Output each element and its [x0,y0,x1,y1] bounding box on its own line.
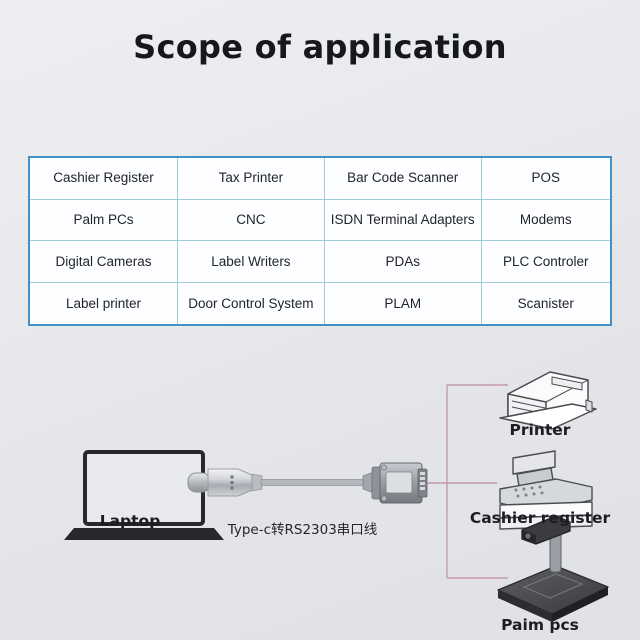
table-cell: Cashier Register [30,158,177,199]
table-cell: Scanister [481,283,610,324]
table-cell: CNC [177,199,324,241]
table-cell: ISDN Terminal Adapters [324,199,481,241]
table-row: Digital Cameras Label Writers PDAs PLC C… [30,241,610,283]
table-cell: POS [481,158,610,199]
table-cell: Label Writers [177,241,324,283]
scope-table-container: Cashier Register Tax Printer Bar Code Sc… [28,156,612,326]
table-cell: PLAM [324,283,481,324]
table-cell: Tax Printer [177,158,324,199]
palm-pcs-scanner-icon [498,516,608,622]
cable-label: Type-c转RS2303串口线 [190,518,415,538]
palm-pcs-label: Paim pcs [460,616,620,634]
scope-table: Cashier Register Tax Printer Bar Code Sc… [30,158,610,324]
table-cell: Label printer [30,283,177,324]
connection-diagram [0,350,640,640]
table-cell: PDAs [324,241,481,283]
table-row: Palm PCs CNC ISDN Terminal Adapters Mode… [30,199,610,241]
page-title: Scope of application [0,28,640,66]
table-cell: Door Control System [177,283,324,324]
table-cell: Digital Cameras [30,241,177,283]
table-cell: Palm PCs [30,199,177,241]
table-cell: Modems [481,199,610,241]
usb-c-to-rs232-cable-icon [188,463,427,503]
connection-lines [427,385,508,578]
cashier-register-label: Cashier register [442,509,638,527]
printer-label: Printer [460,421,620,439]
table-cell: PLC Controler [481,241,610,283]
table-cell: Bar Code Scanner [324,158,481,199]
page-root: Scope of application Cashier Register Ta… [0,0,640,640]
table-row: Cashier Register Tax Printer Bar Code Sc… [30,158,610,199]
table-row: Label printer Door Control System PLAM S… [30,283,610,324]
